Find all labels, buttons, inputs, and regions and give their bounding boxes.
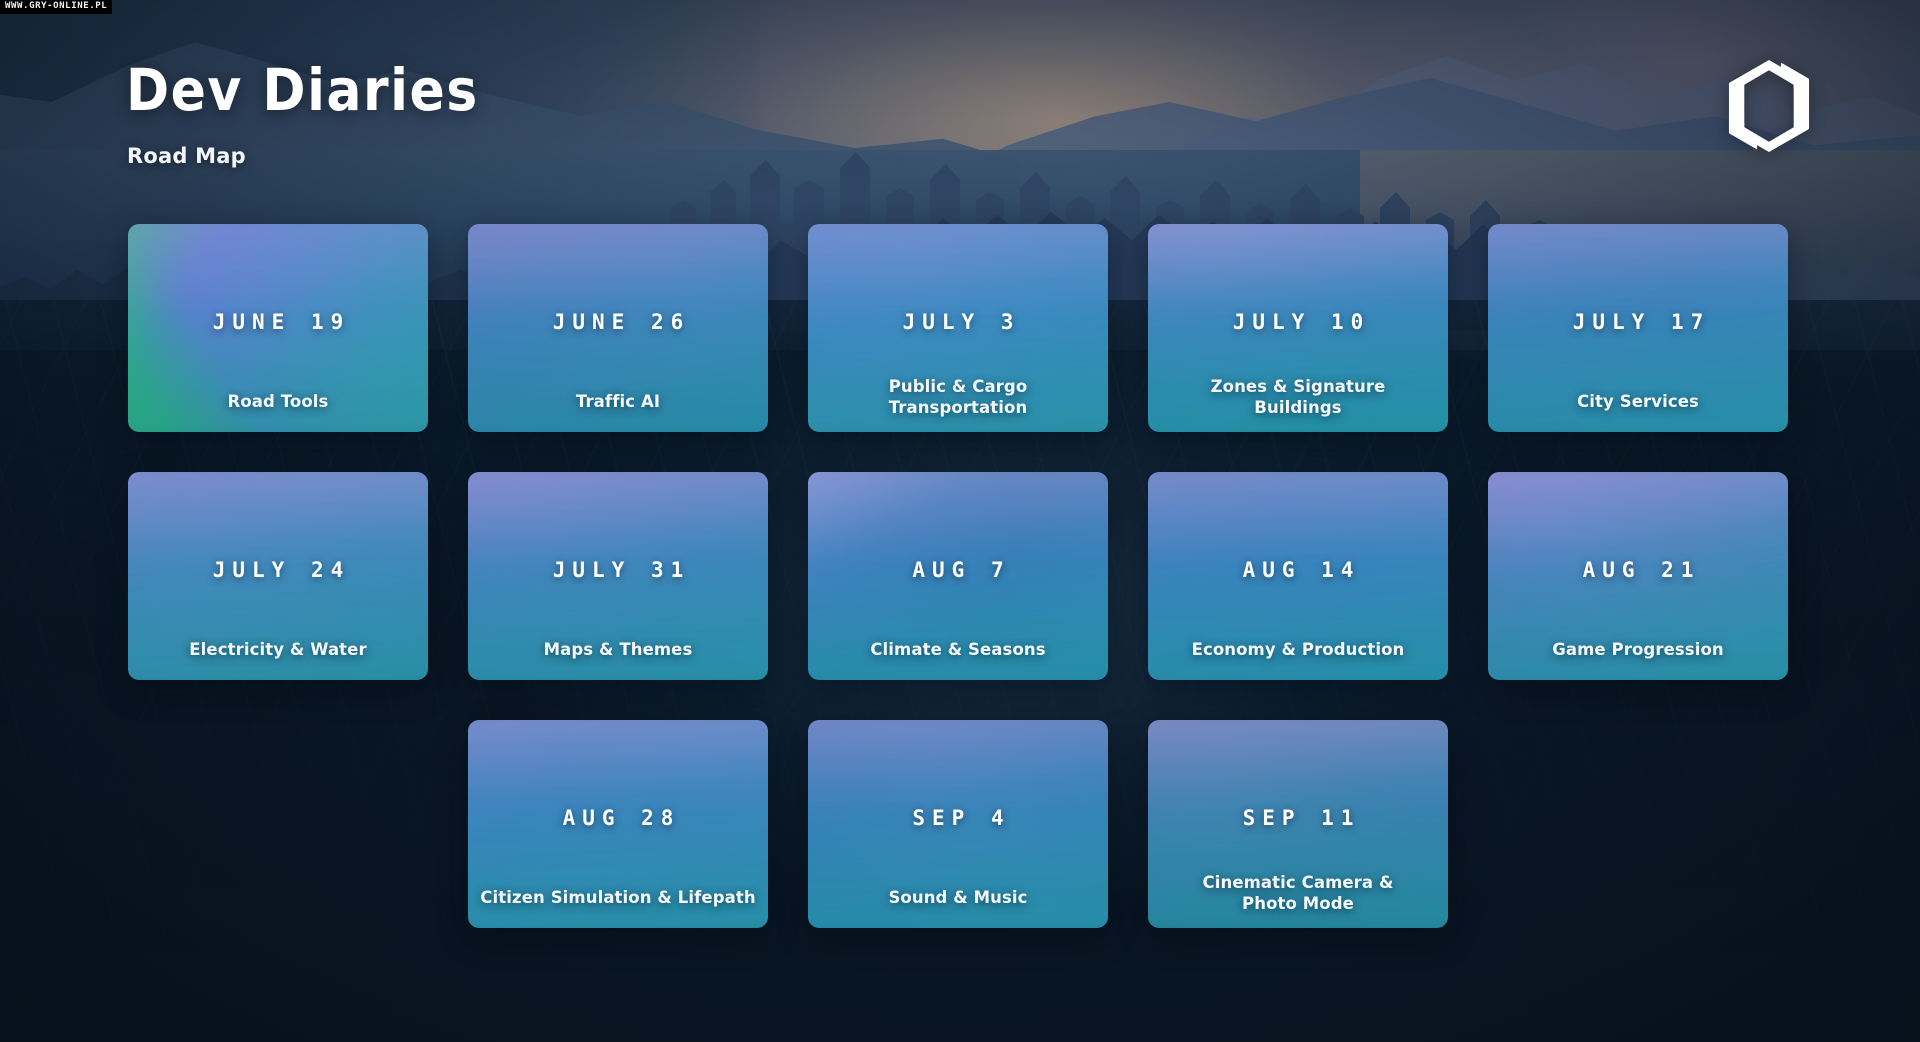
cities-skylines-hexagon-logo-icon <box>1726 60 1812 152</box>
card-date: JULY 31 <box>468 558 768 582</box>
card-topic-label: Cinematic Camera & Photo Mode <box>1193 872 1403 914</box>
roadmap-card[interactable]: JUNE 19Road Tools <box>128 224 428 432</box>
card-text-group: AUG 7Climate & Seasons <box>808 472 1108 680</box>
card-topic-label: Game Progression <box>1500 639 1776 660</box>
roadmap-card[interactable]: SEP 11Cinematic Camera & Photo Mode <box>1148 720 1448 928</box>
card-topic-label: Citizen Simulation & Lifepath <box>480 887 756 908</box>
card-date: JULY 3 <box>808 310 1108 334</box>
card-date: AUG 28 <box>468 806 768 830</box>
header: Dev Diaries Road Map <box>0 0 1920 200</box>
card-text-group: JULY 3Public & Cargo Transportation <box>808 224 1108 432</box>
roadmap-card[interactable]: SEP 4Sound & Music <box>808 720 1108 928</box>
card-text-group: AUG 14Economy & Production <box>1148 472 1448 680</box>
card-date: AUG 7 <box>808 558 1108 582</box>
card-topic-label: Road Tools <box>140 391 416 412</box>
roadmap-card[interactable]: JULY 3Public & Cargo Transportation <box>808 224 1108 432</box>
roadmap-card[interactable]: JULY 17City Services <box>1488 224 1788 432</box>
roadmap-card[interactable]: JULY 10Zones & Signature Buildings <box>1148 224 1448 432</box>
card-text-group: JULY 31Maps & Themes <box>468 472 768 680</box>
card-date: JULY 24 <box>128 558 428 582</box>
card-date: SEP 11 <box>1148 806 1448 830</box>
roadmap-card[interactable]: AUG 21Game Progression <box>1488 472 1788 680</box>
card-text-group: AUG 21Game Progression <box>1488 472 1788 680</box>
card-topic-label: Electricity & Water <box>140 639 416 660</box>
card-date: JUNE 19 <box>128 310 428 334</box>
card-topic-label: Zones & Signature Buildings <box>1193 376 1403 418</box>
card-topic-label: Maps & Themes <box>480 639 756 660</box>
site-watermark: WWW.GRY-ONLINE.PL <box>0 0 112 14</box>
card-text-group: JULY 10Zones & Signature Buildings <box>1148 224 1448 432</box>
page-title: Dev Diaries <box>126 62 479 120</box>
card-text-group: JULY 17City Services <box>1488 224 1788 432</box>
card-text-group: AUG 28Citizen Simulation & Lifepath <box>468 720 768 928</box>
card-date: JUNE 26 <box>468 310 768 334</box>
card-date: JULY 10 <box>1148 310 1448 334</box>
roadmap-card[interactable]: AUG 7Climate & Seasons <box>808 472 1108 680</box>
card-topic-label: Climate & Seasons <box>820 639 1096 660</box>
card-date: AUG 21 <box>1488 558 1788 582</box>
roadmap-card[interactable]: JULY 24Electricity & Water <box>128 472 428 680</box>
card-topic-label: Economy & Production <box>1160 639 1436 660</box>
roadmap-card[interactable]: AUG 28Citizen Simulation & Lifepath <box>468 720 768 928</box>
card-topic-label: Sound & Music <box>820 887 1096 908</box>
roadmap-screen: WWW.GRY-ONLINE.PL Dev Diaries Road Map J… <box>0 0 1920 1042</box>
card-topic-label: City Services <box>1500 391 1776 412</box>
card-text-group: JUNE 19Road Tools <box>128 224 428 432</box>
card-text-group: JUNE 26Traffic AI <box>468 224 768 432</box>
roadmap-card[interactable]: JUNE 26Traffic AI <box>468 224 768 432</box>
card-topic-label: Traffic AI <box>480 391 756 412</box>
roadmap-card[interactable]: JULY 31Maps & Themes <box>468 472 768 680</box>
page-subtitle: Road Map <box>127 144 246 168</box>
card-topic-label: Public & Cargo Transportation <box>853 376 1063 418</box>
card-text-group: SEP 11Cinematic Camera & Photo Mode <box>1148 720 1448 928</box>
card-date: JULY 17 <box>1488 310 1788 334</box>
roadmap-card[interactable]: AUG 14Economy & Production <box>1148 472 1448 680</box>
card-date: AUG 14 <box>1148 558 1448 582</box>
card-text-group: SEP 4Sound & Music <box>808 720 1108 928</box>
card-date: SEP 4 <box>808 806 1108 830</box>
card-text-group: JULY 24Electricity & Water <box>128 472 428 680</box>
